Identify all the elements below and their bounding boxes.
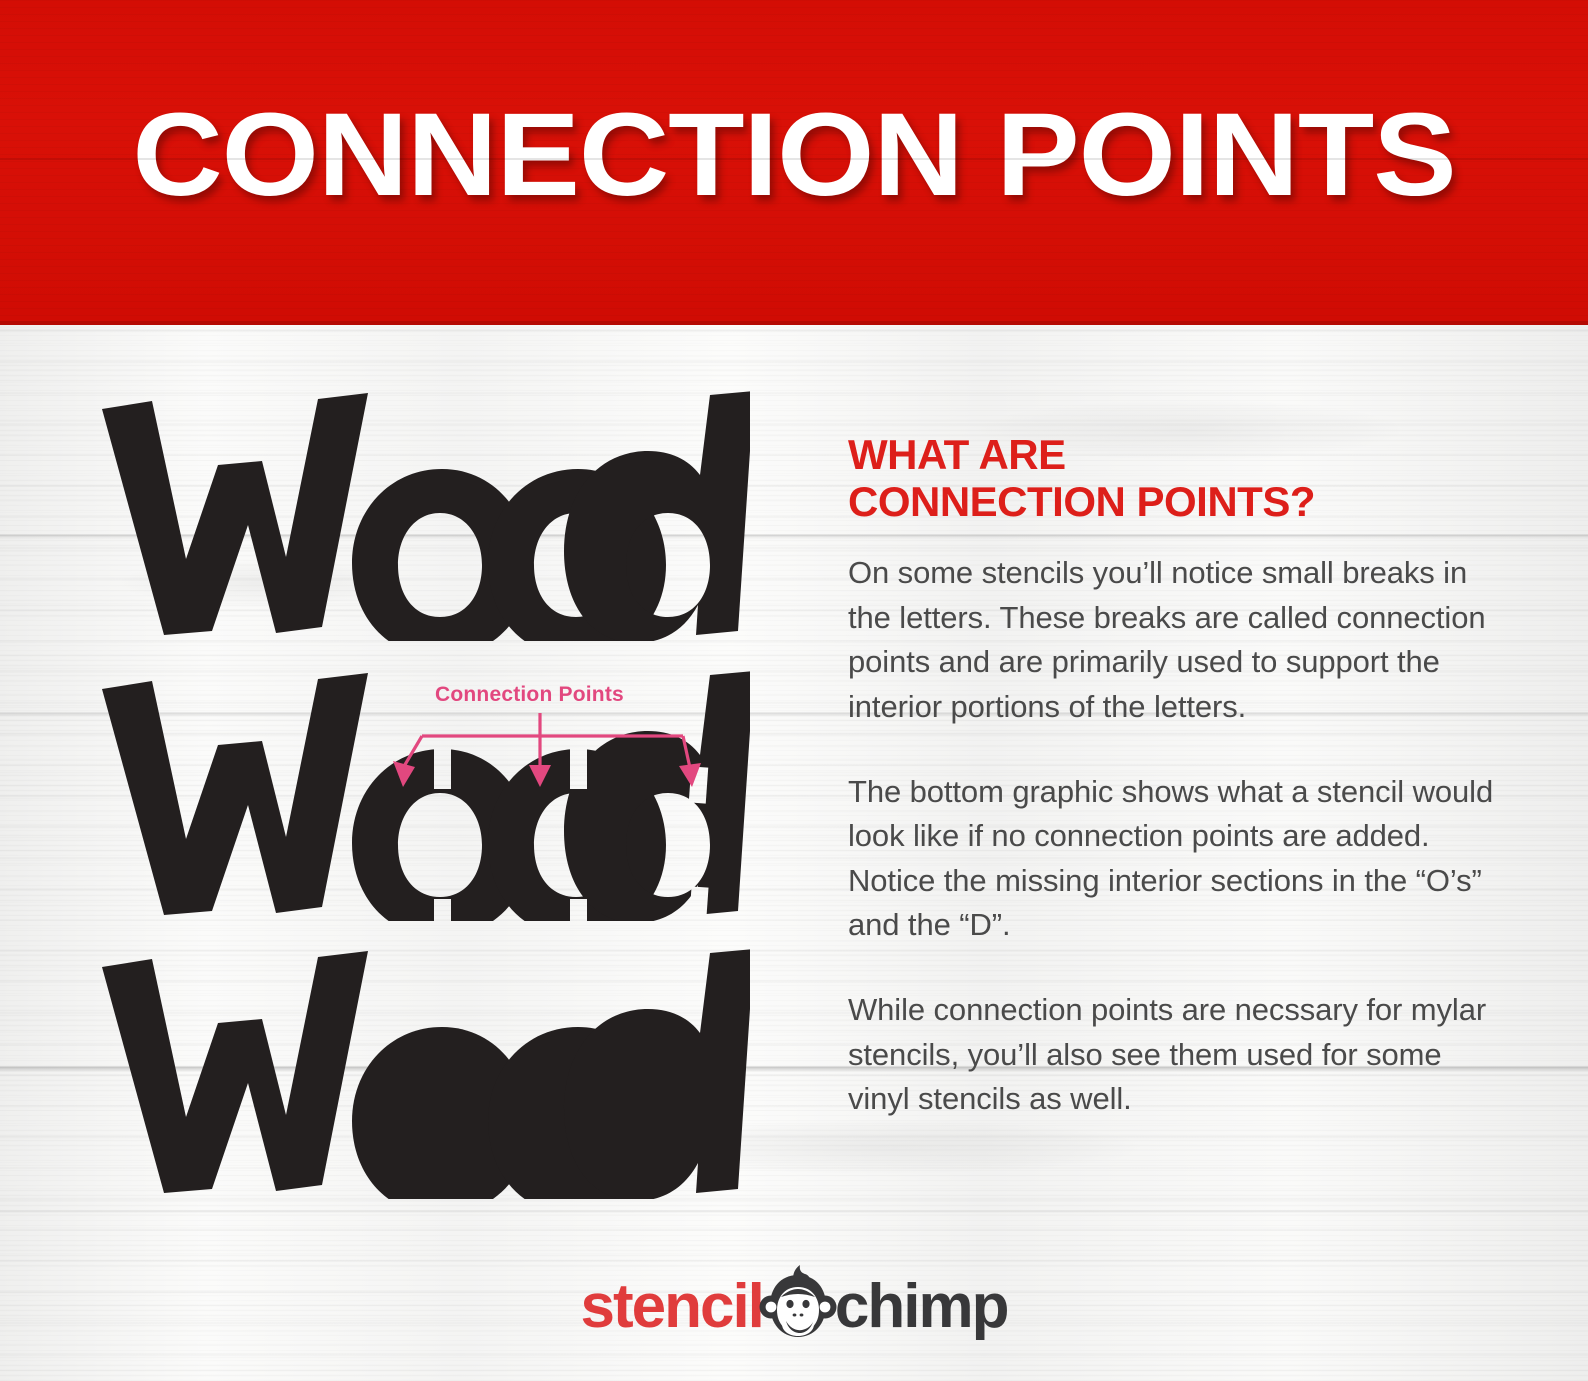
wood-sample-no-connections xyxy=(90,949,810,1199)
logo-word-chimp: chimp xyxy=(835,1276,1008,1338)
wood-solid-svg xyxy=(90,391,750,641)
section-heading-line-1: WHAT ARE xyxy=(848,431,1498,478)
logo-word-stencil: stencil xyxy=(580,1276,762,1338)
wood-stencil-svg xyxy=(90,671,750,921)
connection-points-arrows xyxy=(380,713,720,793)
wood-sample-stencil xyxy=(90,671,810,921)
section-heading: WHAT ARE CONNECTION POINTS? xyxy=(848,431,1498,525)
wood-noconnection-svg xyxy=(90,949,750,1199)
infographic-page: CONNECTION POINTS xyxy=(0,0,1588,1381)
annotation-label: Connection Points xyxy=(435,683,624,707)
wood-sample-solid xyxy=(90,391,810,641)
section-heading-line-2: CONNECTION POINTS? xyxy=(848,478,1498,525)
page-title: CONNECTION POINTS xyxy=(0,96,1588,214)
article-paragraph-1: On some stencils you’ll notice small bre… xyxy=(848,551,1498,730)
content-stage: Connection Points xyxy=(0,321,1588,1381)
article-paragraph-3: While connection points are necssary for… xyxy=(848,988,1498,1122)
article-column: WHAT ARE CONNECTION POINTS? On some sten… xyxy=(848,431,1498,1162)
brand-logo[interactable]: stencil xyxy=(0,1265,1588,1349)
article-paragraph-2: The bottom graphic shows what a stencil … xyxy=(848,770,1498,949)
header-banner: CONNECTION POINTS xyxy=(0,0,1588,325)
wood-samples-column xyxy=(90,391,810,1199)
chimp-face-icon xyxy=(759,1265,837,1343)
